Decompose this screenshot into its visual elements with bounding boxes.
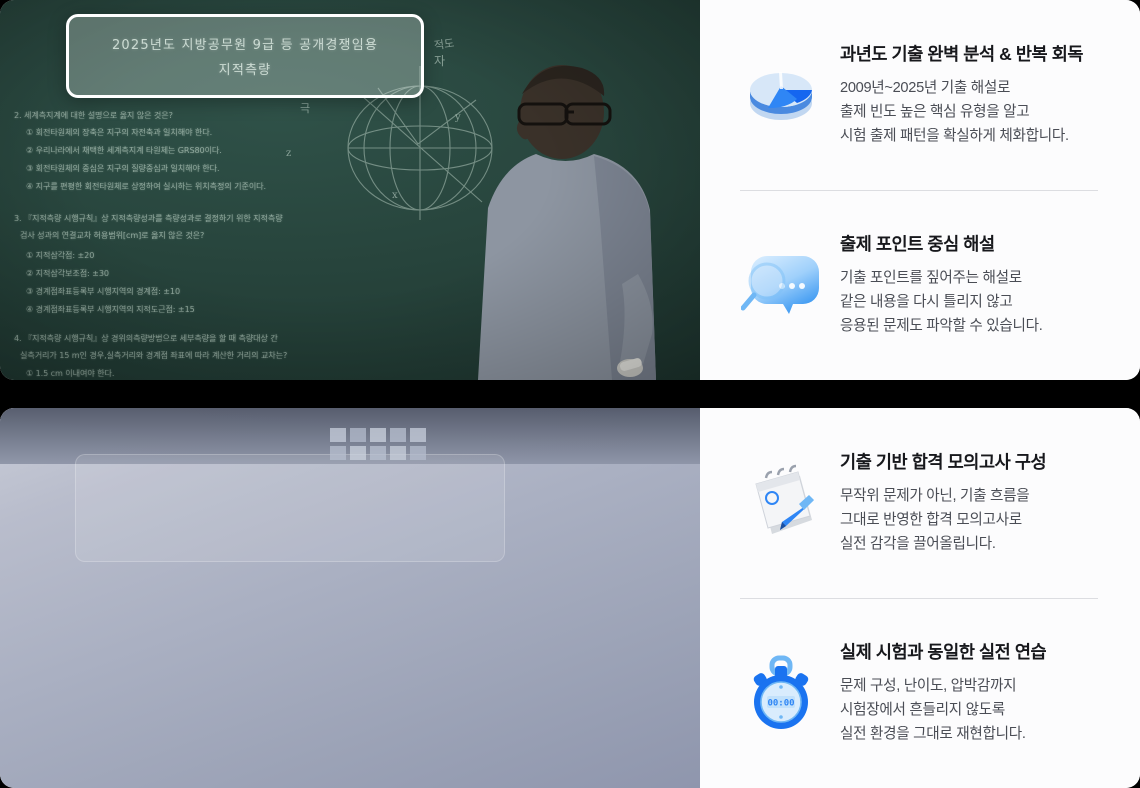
feature-desc-line: 기출 포인트를 짚어주는 해설로 [840, 267, 1098, 291]
highlight-line-2: 지적측량 [219, 59, 272, 78]
feature-list-bottom: 기출 기반 합격 모의고사 구성 무작위 문제가 아닌, 기출 흐름을 그대로 … [700, 408, 1140, 788]
stopwatch-icon: 00:00 [738, 650, 824, 736]
magnifier-speech-bubble-icon [738, 242, 824, 328]
feature-desc-line: 실전 환경을 그대로 재현합니다. [840, 723, 1098, 747]
sticky-notes-grid [330, 426, 450, 470]
feature-title: 기출 기반 합격 모의고사 구성 [840, 449, 1098, 474]
pie-chart-icon [738, 52, 824, 138]
feature-text: 실제 시험과 동일한 실전 연습 문제 구성, 난이도, 압박감까지 시험장에서… [840, 639, 1098, 746]
feature-text: 기출 기반 합격 모의고사 구성 무작위 문제가 아닌, 기출 흐름을 그대로 … [840, 449, 1098, 556]
feature-desc-line: 같은 내용을 다시 틀리지 않고 [840, 291, 1098, 315]
feature-desc-line: 시험장에서 흔들리지 않도록 [840, 699, 1098, 723]
feature-desc-line: 응용된 문제도 파악할 수 있습니다. [840, 315, 1098, 339]
feature-desc-line: 실전 감각을 끌어올립니다. [840, 533, 1098, 557]
feature-desc-line: 문제 구성, 난이도, 압박감까지 [840, 675, 1098, 699]
feature-item-key-point-explanation[interactable]: 출제 포인트 중심 해설 기출 포인트를 짚어주는 해설로 같은 내용을 다시 … [738, 190, 1098, 380]
feature-item-real-exam-practice[interactable]: 00:00 실제 시험과 동일한 실전 연습 문제 구성, 난이도, 압박감까지… [738, 598, 1098, 788]
promo-page: 적도 자 극 y z x 2. 세계측지계에 대한 설명으로 옳지 않은 것은?… [0, 0, 1140, 788]
feature-desc-line: 출제 빈도 높은 핵심 유형을 알고 [840, 101, 1098, 125]
feature-item-mock-exam-structure[interactable]: 기출 기반 합격 모의고사 구성 무작위 문제가 아닌, 기출 흐름을 그대로 … [738, 408, 1098, 598]
chalkboard-media: 적도 자 극 y z x 2. 세계측지계에 대한 설명으로 옳지 않은 것은?… [0, 0, 700, 380]
feature-card-bottom: 지적측량 01 지적확정측량 성과검사기준으로 옳지 않은 것은? ① 지적도근… [0, 408, 1140, 788]
feature-title: 출제 포인트 중심 해설 [840, 231, 1098, 256]
feature-desc-line: 그대로 반영한 합격 모의고사로 [840, 509, 1098, 533]
projected-slide-frame [75, 454, 505, 562]
notepad-pen-icon [738, 460, 824, 546]
feature-desc-line: 시험 출제 패턴을 확실하게 체화합니다. [840, 125, 1098, 149]
feature-text: 과년도 기출 완벽 분석 & 반복 회독 2009년~2025년 기출 해설로 … [840, 41, 1098, 148]
feature-desc-line: 무작위 문제가 아닌, 기출 흐름을 [840, 485, 1098, 509]
highlight-box-title: 2025년도 지방공무원 9급 등 공개경쟁임용 지적측량 [66, 14, 424, 98]
feature-card-top: 적도 자 극 y z x 2. 세계측지계에 대한 설명으로 옳지 않은 것은?… [0, 0, 1140, 380]
feature-desc-line: 2009년~2025년 기출 해설로 [840, 77, 1098, 101]
feature-title: 과년도 기출 완벽 분석 & 반복 회독 [840, 41, 1098, 66]
feature-title: 실제 시험과 동일한 실전 연습 [840, 639, 1098, 664]
feature-text: 출제 포인트 중심 해설 기출 포인트를 짚어주는 해설로 같은 내용을 다시 … [840, 231, 1098, 338]
feature-list-top: 과년도 기출 완벽 분석 & 반복 회독 2009년~2025년 기출 해설로 … [700, 0, 1140, 380]
stopwatch-display: 00:00 [767, 699, 794, 709]
highlight-line-1: 2025년도 지방공무원 9급 등 공개경쟁임용 [112, 34, 378, 53]
whiteboard-media: 지적측량 01 지적확정측량 성과검사기준으로 옳지 않은 것은? ① 지적도근… [0, 408, 700, 788]
feature-item-past-exam-analysis[interactable]: 과년도 기출 완벽 분석 & 반복 회독 2009년~2025년 기출 해설로 … [738, 0, 1098, 190]
